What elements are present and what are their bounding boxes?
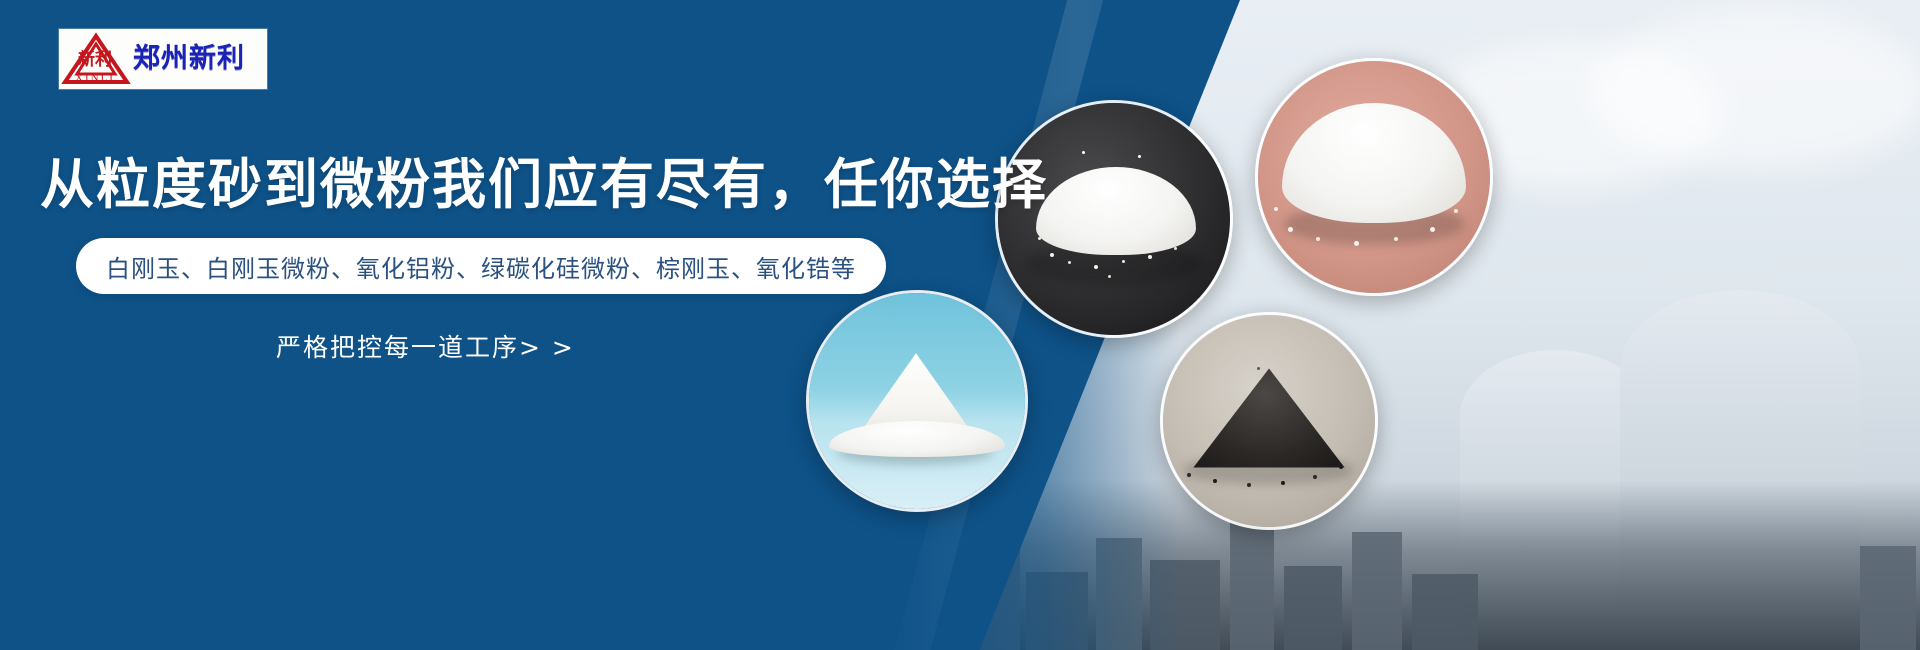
process-cta-link[interactable]: 严格把控每一道工序> > [276, 328, 575, 364]
product-photo-micro-powder [1255, 58, 1493, 296]
powder-dust [1258, 61, 1490, 293]
hero-banner: 新利 XINLI 郑州新利 从粒度砂到微粉我们应有尽有，任你选择 白刚玉、白刚玉… [0, 0, 1920, 650]
page-title: 从粒度砂到微粉我们应有尽有，任你选择 [40, 140, 1048, 219]
product-list-pill: 白刚玉、白刚玉微粉、氧化铝粉、绿碳化硅微粉、棕刚玉、氧化锆等 [76, 238, 886, 294]
logo-company-name: 郑州新利 [133, 45, 245, 74]
xinli-triangle-icon: 新利 XINLI [59, 30, 133, 88]
product-photo-alumina-cone [806, 290, 1028, 512]
logo-pinyin-text: XINLI [59, 73, 131, 84]
product-photo-white-grit [995, 100, 1233, 338]
grit-speckles [1163, 315, 1375, 527]
steam-cloud [1590, 10, 1920, 170]
company-logo[interactable]: 新利 XINLI 郑州新利 [59, 29, 267, 89]
product-list-text: 白刚玉、白刚玉微粉、氧化铝粉、绿碳化硅微粉、棕刚玉、氧化锆等 [106, 249, 856, 284]
grit-speckles [998, 103, 1230, 335]
product-photo-black-grit [1160, 312, 1378, 530]
logo-mark-text: 新利 [63, 52, 127, 69]
